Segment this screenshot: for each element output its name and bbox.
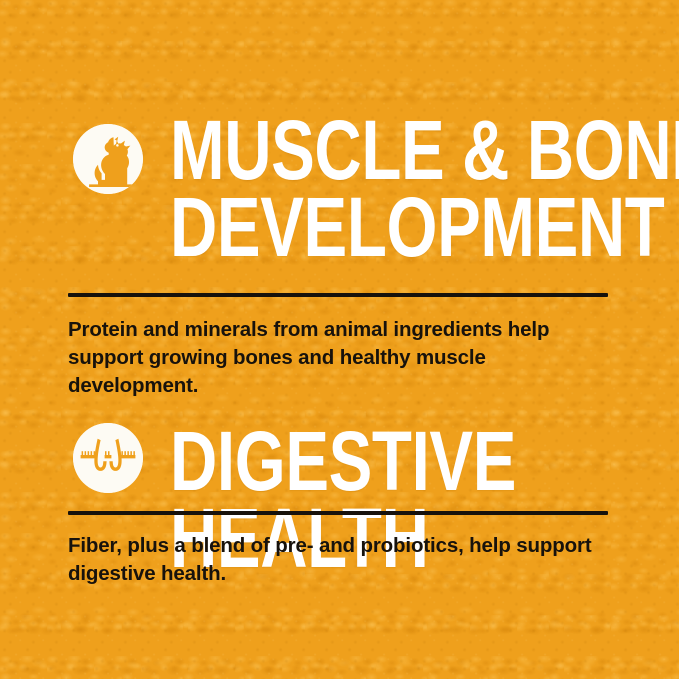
- intestinal-villi-icon: [73, 423, 143, 493]
- sitting-dog-icon: [73, 124, 143, 194]
- benefits-infographic: MUSCLE & BONE DEVELOPMENT Protein and mi…: [0, 0, 679, 679]
- section-title-muscle-bone: MUSCLE & BONE DEVELOPMENT: [170, 112, 679, 267]
- section-divider-2: [68, 511, 608, 515]
- section-body-digestive-health: Fiber, plus a blend of pre- and probioti…: [68, 532, 598, 588]
- infographic-content: MUSCLE & BONE DEVELOPMENT Protein and mi…: [0, 0, 679, 679]
- section-divider-1: [68, 293, 608, 297]
- section-body-muscle-bone: Protein and minerals from animal ingredi…: [68, 316, 598, 400]
